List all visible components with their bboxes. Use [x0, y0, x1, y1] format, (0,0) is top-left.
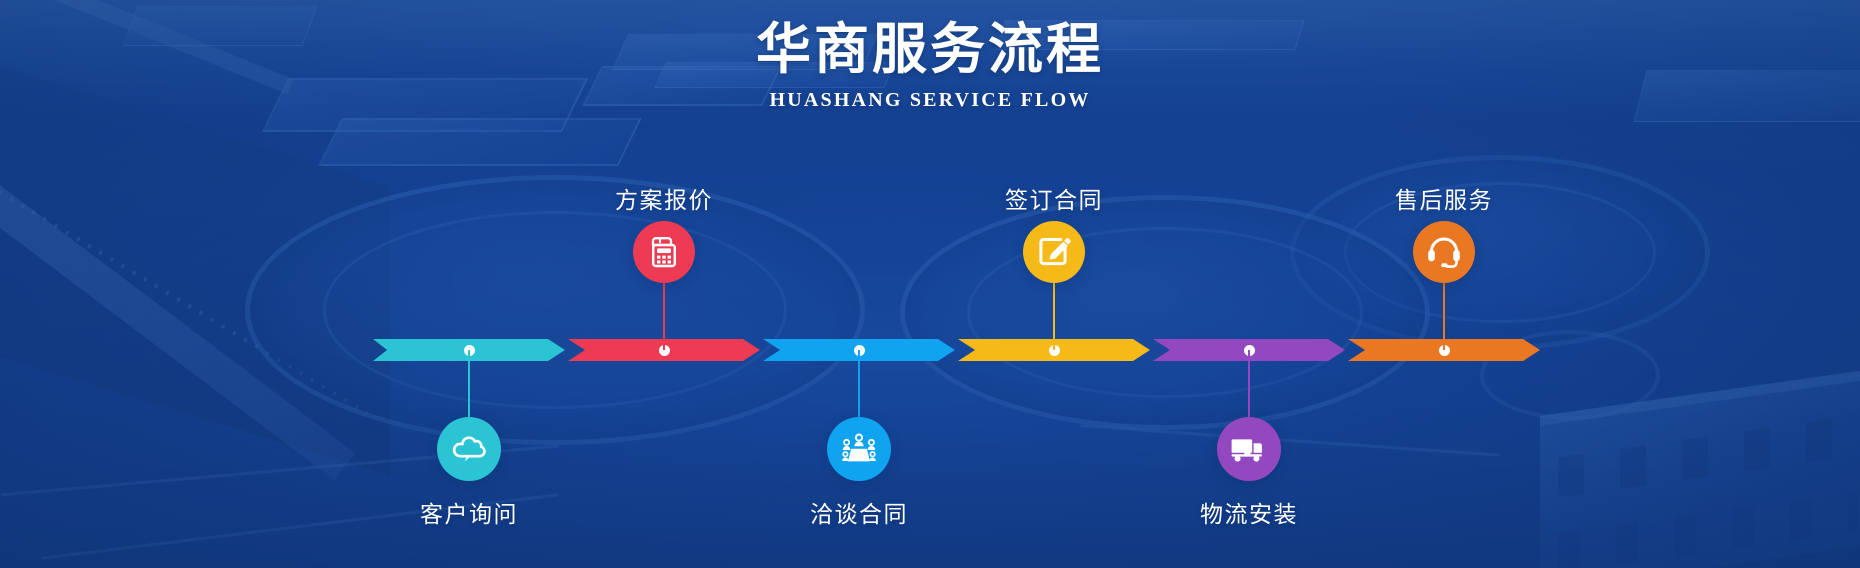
step-3-icon-bubble[interactable] [827, 417, 891, 481]
step-4-icon-bubble[interactable] [1023, 221, 1085, 283]
headset-support-icon [1426, 235, 1462, 269]
step-2-label: 方案报价 [574, 181, 754, 215]
step-1-label: 客户询问 [379, 495, 559, 529]
step-2-icon-bubble[interactable] [633, 221, 695, 283]
cloud-chat-icon [451, 434, 487, 464]
step-5-label: 物流安装 [1159, 495, 1339, 529]
page-title: 华商服务流程 [0, 18, 1860, 81]
connector-stem-6 [1443, 279, 1445, 350]
delivery-truck-icon [1230, 435, 1268, 463]
step-6-icon-bubble[interactable] [1413, 221, 1475, 283]
connector-stem-1 [468, 350, 470, 421]
page-subtitle: HUASHANG SERVICE FLOW [0, 89, 1860, 112]
service-flow-banner: 华商服务流程 HUASHANG SERVICE FLOW [0, 0, 1860, 568]
step-5-icon-bubble[interactable] [1217, 417, 1281, 481]
connector-stem-5 [1248, 350, 1250, 421]
step-3-label: 洽谈合同 [769, 495, 949, 529]
calculator-receipt-icon [649, 235, 679, 269]
chevron-bar [373, 339, 1540, 361]
pencil-sign-icon [1037, 235, 1071, 269]
meeting-table-icon [840, 433, 878, 465]
step-4-label: 签订合同 [964, 181, 1144, 215]
connector-stem-3 [858, 350, 860, 421]
step-6-label: 售后服务 [1354, 181, 1534, 215]
banner-heading: 华商服务流程 HUASHANG SERVICE FLOW [0, 18, 1860, 112]
connector-stem-2 [663, 279, 665, 350]
step-1-icon-bubble[interactable] [437, 417, 501, 481]
connector-stem-4 [1053, 279, 1055, 350]
